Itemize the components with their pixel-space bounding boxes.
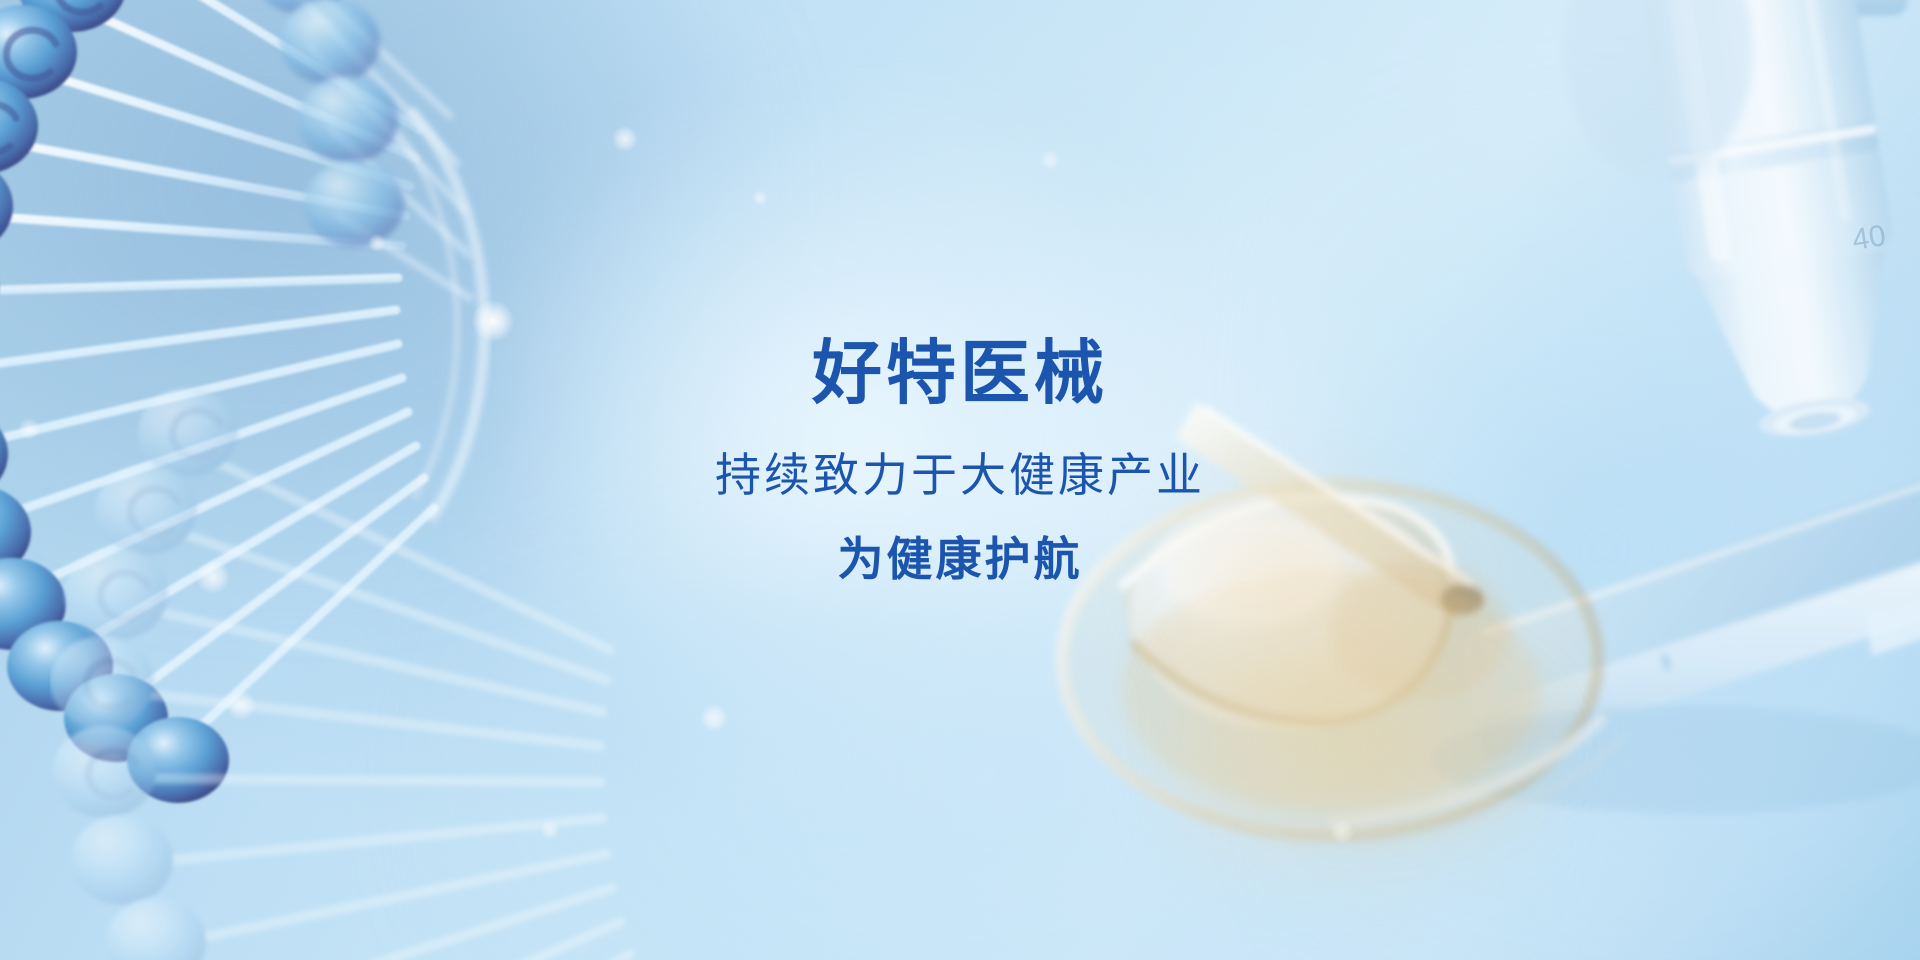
bokeh-particle (612, 126, 638, 152)
bokeh-particle (226, 690, 256, 720)
bokeh-particle (752, 190, 768, 206)
banner-title: 好特医械 (0, 338, 1920, 408)
banner-subtitle: 持续致力于大健康产业 (0, 452, 1920, 498)
bokeh-particle (540, 820, 560, 840)
background-wash-bottom (430, 580, 1530, 960)
bokeh-particle (1040, 150, 1060, 170)
bokeh-particle (700, 704, 728, 732)
bokeh-particle (368, 234, 386, 252)
banner-tagline: 为健康护航 (0, 536, 1920, 582)
amber-glow-overlay-lower (1170, 620, 1590, 910)
microscope-magnification-label: 40 (1850, 219, 1888, 257)
banner-copy: 好特医械 持续致力于大健康产业 为健康护航 (0, 338, 1920, 582)
bokeh-particle (1330, 820, 1354, 844)
hero-banner: 40 (0, 0, 1920, 960)
bokeh-particle (472, 300, 514, 342)
